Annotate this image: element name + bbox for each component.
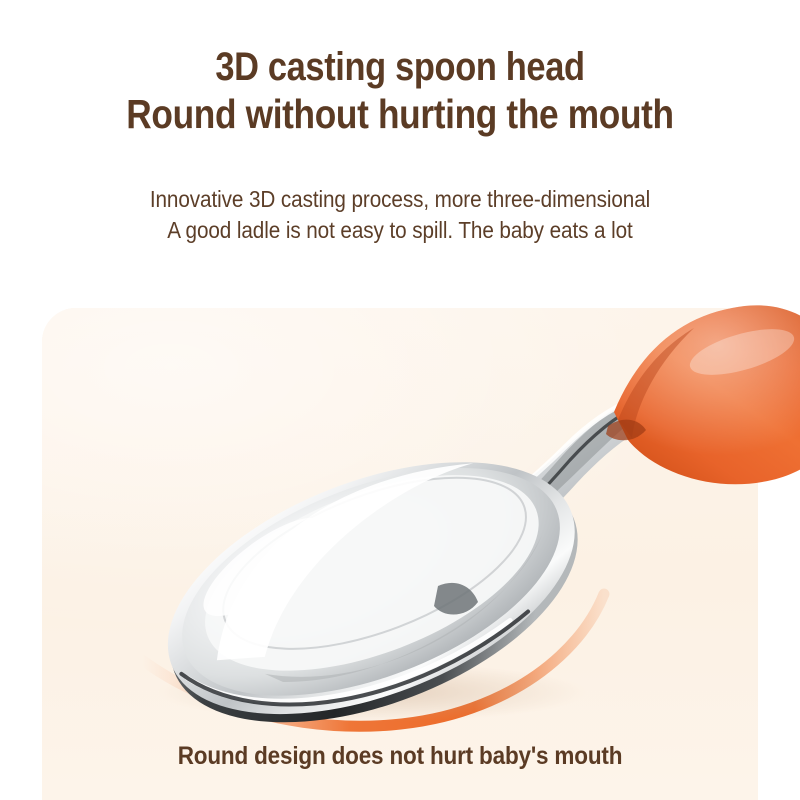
subheadline-line-1: Innovative 3D casting process, more thre… xyxy=(40,184,760,215)
headline-line-1: 3D casting spoon head xyxy=(56,44,744,91)
product-feature-banner: 3D casting spoon head Round without hurt… xyxy=(0,0,800,800)
product-showcase-panel xyxy=(42,308,758,800)
headline-block: 3D casting spoon head Round without hurt… xyxy=(0,44,800,138)
caption-block: Round design does not hurt baby's mouth xyxy=(0,740,800,772)
panel-sheen xyxy=(42,308,758,800)
subheadline-block: Innovative 3D casting process, more thre… xyxy=(0,184,800,246)
subheadline-line-2: A good ladle is not easy to spill. The b… xyxy=(40,215,760,246)
orange-accent-arc xyxy=(42,308,758,800)
caption-text: Round design does not hurt baby's mouth xyxy=(178,740,623,772)
headline-line-2: Round without hurting the mouth xyxy=(56,91,744,138)
